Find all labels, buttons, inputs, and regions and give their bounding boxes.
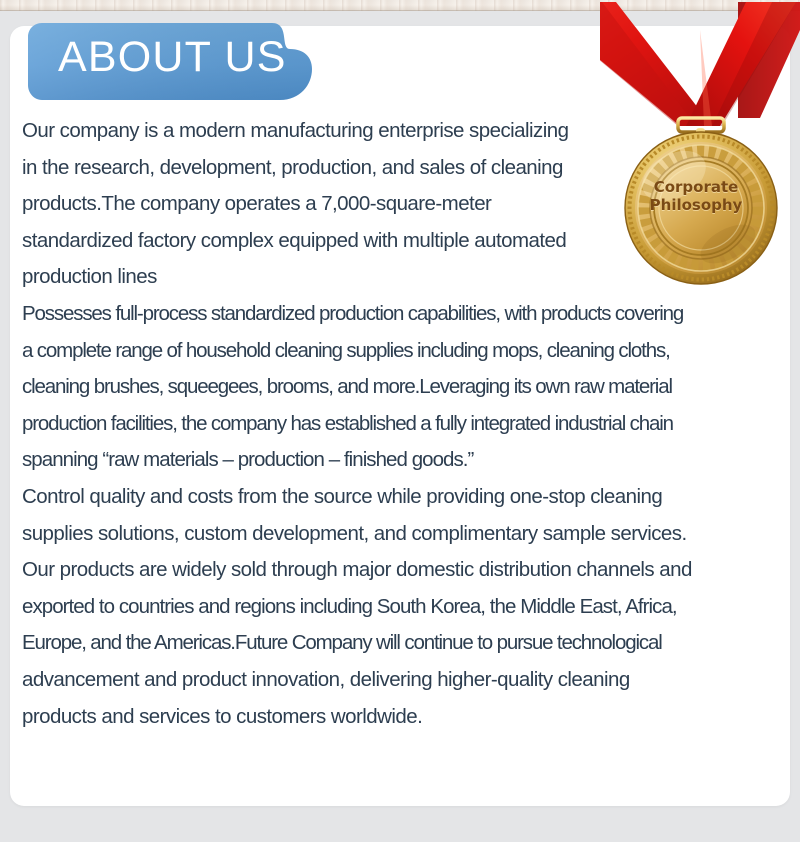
body-line: products.The company operates a 7,000-sq… [22,186,778,223]
body-line: spanning “raw materials – production – f… [22,442,778,479]
body-line: advancement and product innovation, deli… [22,662,778,699]
paragraph-3: Control quality and costs from the sourc… [22,479,778,735]
body-line: a complete range of household cleaning s… [22,333,778,370]
about-us-body: Our company is a modern manufacturing en… [22,113,778,735]
body-line: production facilities, the company has e… [22,406,778,443]
wood-texture-strip [0,0,800,11]
body-line: in the research, development, production… [22,150,778,187]
page-title: ABOUT US [58,36,287,79]
body-line: Our products are widely sold through maj… [22,552,778,589]
body-line: cleaning brushes, squeegees, brooms, and… [22,369,778,406]
paragraph-2: Possesses full-process standardized prod… [22,296,778,479]
body-line: exported to countries and regions includ… [22,589,778,626]
body-line: production lines [22,259,778,296]
body-line: Europe, and the Americas.Future Company … [22,625,778,662]
body-line: Control quality and costs from the sourc… [22,479,778,516]
body-line: Possesses full-process standardized prod… [22,296,778,333]
body-line: standardized factory complex equipped wi… [22,223,778,260]
body-line: Our company is a modern manufacturing en… [22,113,778,150]
paragraph-1: Our company is a modern manufacturing en… [22,113,778,296]
body-line: products and services to customers world… [22,699,778,736]
body-line: supplies solutions, custom development, … [22,516,778,553]
